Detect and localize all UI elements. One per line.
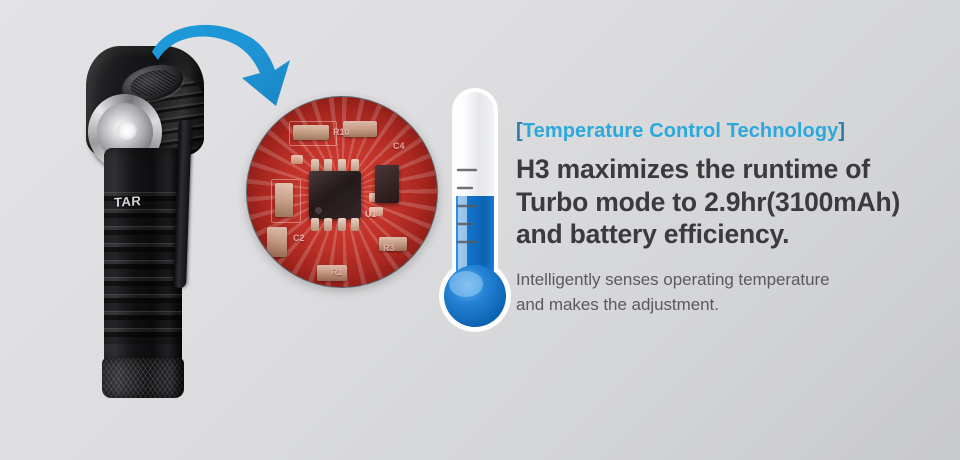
banner-stage: TAR R10 C4 U1 bbox=[0, 0, 960, 460]
thermometer-icon bbox=[430, 84, 520, 340]
subtext-line-2: and makes the adjustment. bbox=[516, 292, 946, 318]
board-vignette bbox=[247, 97, 437, 287]
bracket-close: ] bbox=[838, 120, 845, 142]
bracket-open: [ bbox=[516, 120, 523, 142]
flashlight-tailcap bbox=[102, 358, 184, 398]
headline-line-2: Turbo mode to 2.9hr(3100mAh) bbox=[516, 186, 946, 219]
eyebrow-label: Temperature Control Technology bbox=[523, 120, 839, 142]
headline-line-1: H3 maximizes the runtime of bbox=[516, 153, 946, 186]
headline: H3 maximizes the runtime of Turbo mode t… bbox=[516, 153, 946, 251]
flashlight-brand-label: TAR bbox=[114, 193, 141, 210]
copy-block: [Temperature Control Technology] H3 maxi… bbox=[516, 120, 946, 318]
headline-line-3: and battery efficiency. bbox=[516, 218, 946, 251]
magnified-circuit-board: R10 C4 U1 C2 R3 R1 bbox=[246, 96, 438, 288]
flashlight-body: TAR bbox=[104, 148, 182, 362]
eyebrow-heading: [Temperature Control Technology] bbox=[516, 120, 946, 143]
subtext-line-1: Intelligently senses operating temperatu… bbox=[516, 267, 946, 293]
flashlight-body-ribs bbox=[104, 192, 182, 344]
subtext: Intelligently senses operating temperatu… bbox=[516, 267, 946, 318]
flashlight-led bbox=[115, 120, 138, 141]
